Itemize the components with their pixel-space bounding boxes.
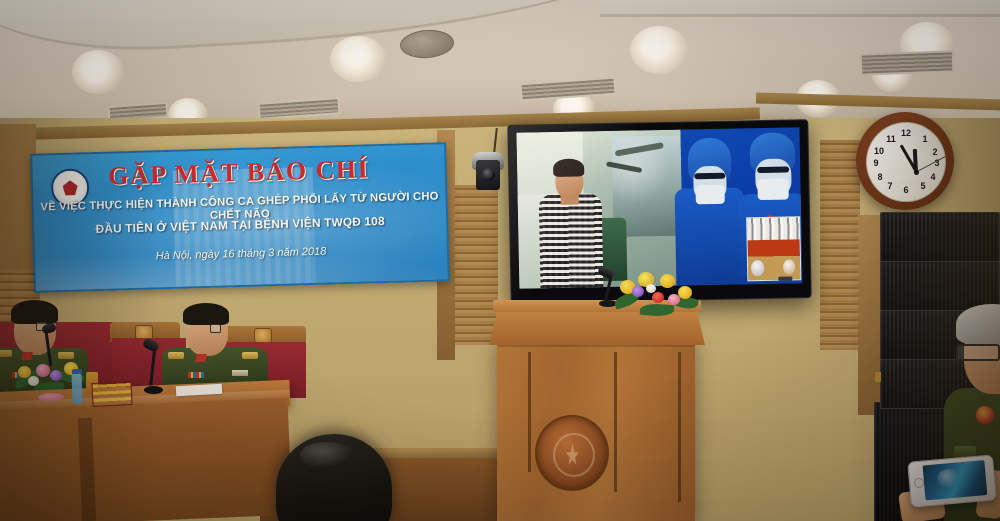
- instrument-bowl: [751, 260, 765, 276]
- recessed-downlight: [330, 36, 386, 82]
- left-wall-shadow: [0, 118, 160, 521]
- surgical-goggles: [694, 172, 725, 179]
- surgical-instrument-tray: [747, 217, 800, 240]
- instrument-bowl: [783, 259, 795, 274]
- officer-medal-ribbon: [188, 372, 204, 378]
- flower-yellow: [678, 286, 692, 299]
- surgical-mask: [696, 185, 725, 204]
- surgical-mask: [758, 179, 789, 200]
- officer-glasses: [210, 324, 221, 333]
- air-conditioning-vent: [860, 50, 955, 75]
- officer-collar-insignia: [195, 354, 207, 362]
- seal-star-icon: [566, 443, 579, 465]
- screen-operating-room-feed: [681, 127, 803, 285]
- patient-hair: [553, 158, 585, 177]
- flower-white: [646, 284, 656, 293]
- officer-epaulette: [168, 352, 184, 359]
- officer-epaulette: [242, 352, 258, 359]
- recessed-downlight: [630, 26, 688, 74]
- hospital-crest-seal: [535, 415, 609, 491]
- picture-in-picture-operating-room-inset: [746, 216, 802, 281]
- flower-pink: [668, 294, 680, 305]
- screen-icu-feed: [516, 130, 683, 289]
- press-conference-photo: GẶP MẶT BÁO CHÍ VỀ VIỆC THỰC HIỆN THÀNH …: [0, 0, 1000, 521]
- podium-groove: [678, 352, 681, 502]
- recessed-downlight: [72, 50, 124, 94]
- podium-groove: [528, 352, 531, 472]
- podium-groove: [614, 352, 617, 492]
- flower-red: [652, 292, 664, 303]
- podium-flower-arrangement: [612, 268, 702, 316]
- ceiling-cove-molding-right: [600, 0, 1000, 17]
- wall-slat-panel-center: [452, 185, 498, 345]
- television-screen: [516, 127, 802, 288]
- officer-wing-badge: [232, 370, 248, 376]
- tv-brand-logo: [778, 276, 792, 280]
- officer-hair: [183, 303, 229, 325]
- hair-highlight: [300, 442, 354, 468]
- surgical-goggles: [757, 166, 789, 173]
- flower-leaf: [640, 303, 675, 317]
- patient-checkered-shirt: [539, 194, 603, 289]
- flower-yellow: [660, 274, 675, 288]
- chair-carved-medallion: [254, 328, 272, 343]
- right-corner-shadow: [850, 118, 1000, 521]
- camera-lens-icon: [482, 168, 495, 181]
- flower-purple: [632, 286, 644, 297]
